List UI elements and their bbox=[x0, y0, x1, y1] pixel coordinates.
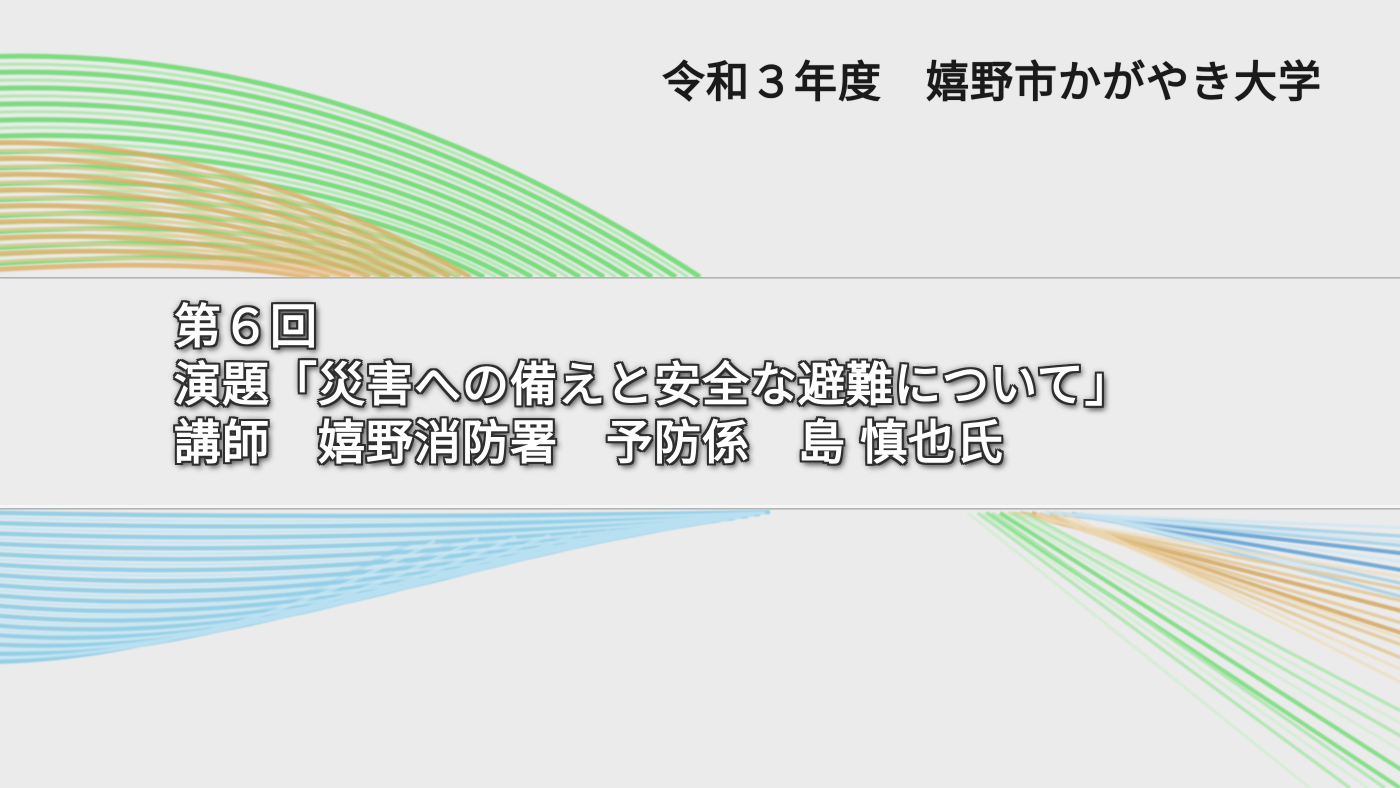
program-header-title: 令和３年度 嬉野市かがやき大学 bbox=[662, 48, 1322, 110]
title-card-slide: 令和３年度 嬉野市かがやき大学 第６回 演題「災害への備えと安全な避難について」… bbox=[0, 0, 1400, 788]
lecture-title-block: 第６回 演題「災害への備えと安全な避難について」 講師 嬉野消防署 予防係 島 … bbox=[174, 298, 1133, 472]
bottom-divider-highlight bbox=[0, 505, 1400, 508]
session-number-line: 第６回 bbox=[174, 298, 1133, 356]
lecture-topic-line: 演題「災害への備えと安全な避難について」 bbox=[174, 356, 1133, 414]
lecturer-line: 講師 嬉野消防署 予防係 島 慎也氏 bbox=[174, 414, 1133, 472]
bottom-divider-rule bbox=[0, 508, 1400, 510]
